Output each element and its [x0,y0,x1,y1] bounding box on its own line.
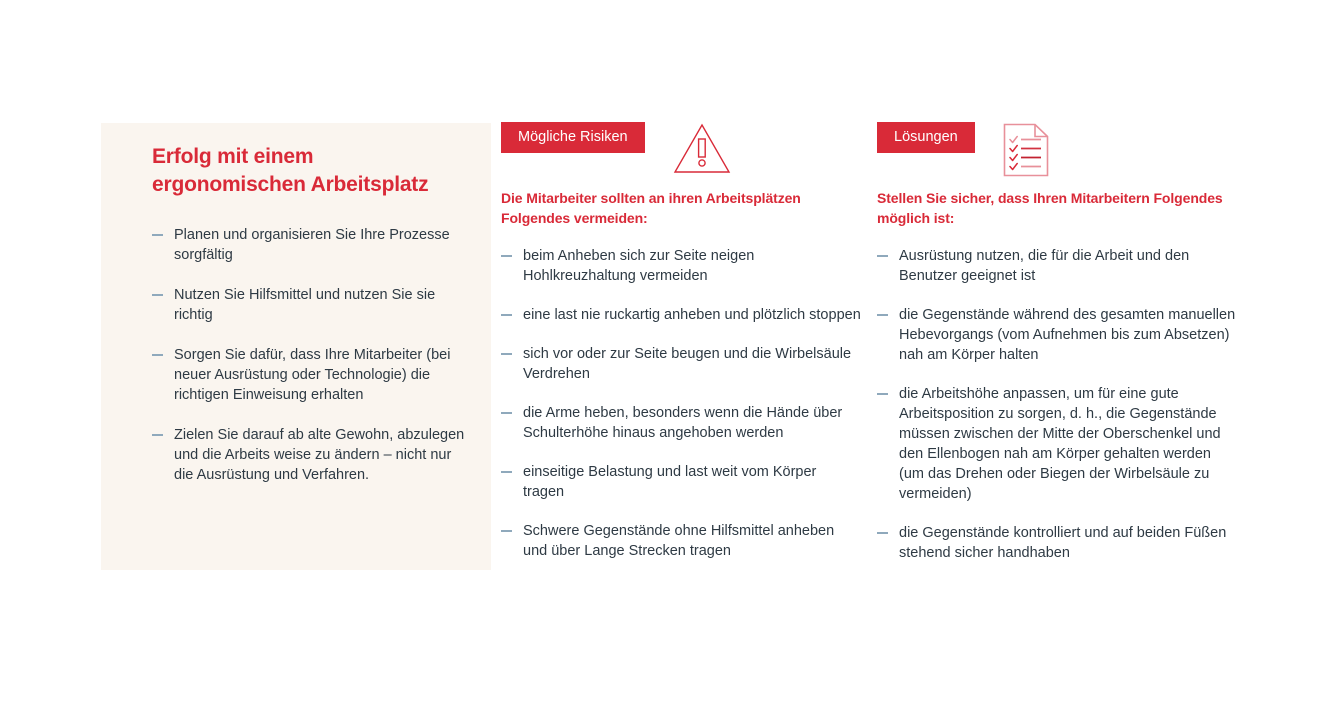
dash-bullet-icon [501,412,512,414]
dash-bullet-icon [152,234,163,236]
dash-bullet-icon [877,393,888,395]
dash-bullet-icon [501,471,512,473]
list-item: Ausrüstung nutzen, die für die Arbeit un… [877,246,1237,286]
solutions-badge: Lösungen [877,122,975,153]
list-item-text: die Gegenstände während des gesamten man… [899,307,1235,363]
solutions-column-header: Lösungen [877,122,1237,188]
dash-bullet-icon [152,434,163,436]
list-item: eine last nie ruckartig anheben und plöt… [501,305,861,325]
list-item-text: Zielen Sie darauf ab alte Gewohn, abzule… [174,427,464,483]
dash-bullet-icon [152,294,163,296]
list-item-text: Ausrüstung nutzen, die für die Arbeit un… [899,248,1189,284]
page-title: Erfolg mit einem ergonomischen Arbeitspl… [152,143,462,199]
list-item: einseitige Belastung und last weit vom K… [501,462,861,502]
list-item-text: Nutzen Sie Hilfsmittel und nutzen Sie si… [174,287,435,323]
dash-bullet-icon [877,532,888,534]
list-item-text: Sorgen Sie dafür, dass Ihre Mitarbeiter … [174,347,450,403]
list-item-text: Planen und organisieren Sie Ihre Prozess… [174,227,450,263]
list-item: die Arbeitshöhe anpassen, um für eine gu… [877,384,1237,504]
list-item-text: eine last nie ruckartig anheben und plöt… [523,307,861,323]
risks-heading: Die Mitarbeiter sollten an ihren Arbeits… [501,188,861,228]
success-tips-list: Planen und organisieren Sie Ihre Prozess… [152,225,469,485]
list-item: Nutzen Sie Hilfsmittel und nutzen Sie si… [152,285,469,325]
solutions-list: Ausrüstung nutzen, die für die Arbeit un… [877,246,1237,563]
dash-bullet-icon [877,314,888,316]
success-panel: Erfolg mit einem ergonomischen Arbeitspl… [101,123,491,570]
list-item: Schwere Gegenstände ohne Hilfsmittel anh… [501,521,861,561]
risks-column: Mögliche Risiken Die Mitarbeiter sollten… [501,122,861,561]
list-item: Sorgen Sie dafür, dass Ihre Mitarbeiter … [152,345,469,405]
dash-bullet-icon [877,255,888,257]
dash-bullet-icon [152,354,163,356]
risks-column-header: Mögliche Risiken [501,122,861,188]
list-item: die Gegenstände kontrolliert und auf bei… [877,523,1237,563]
risks-list: beim Anheben sich zur Seite neigen Hohlk… [501,246,861,561]
warning-triangle-icon [672,122,732,180]
dash-bullet-icon [501,353,512,355]
list-item-text: Schwere Gegenstände ohne Hilfsmittel anh… [523,523,834,559]
list-item: Planen und organisieren Sie Ihre Prozess… [152,225,469,265]
list-item: sich vor oder zur Seite beugen und die W… [501,344,861,384]
list-item-text: die Arme heben, besonders wenn die Hände… [523,405,842,441]
risks-badge: Mögliche Risiken [501,122,645,153]
list-item: beim Anheben sich zur Seite neigen Hohlk… [501,246,861,286]
success-panel-content: Erfolg mit einem ergonomischen Arbeitspl… [152,143,469,505]
dash-bullet-icon [501,530,512,532]
list-item-text: sich vor oder zur Seite beugen und die W… [523,346,851,382]
list-item-text: beim Anheben sich zur Seite neigen Hohlk… [523,248,754,284]
solutions-column: Lösungen Stellen Sie sicher, dass Ihren … [877,122,1237,563]
list-item-text: die Arbeitshöhe anpassen, um für eine gu… [899,386,1221,502]
list-item-text: einseitige Belastung und last weit vom K… [523,464,816,500]
dash-bullet-icon [501,255,512,257]
list-item: Zielen Sie darauf ab alte Gewohn, abzule… [152,425,469,485]
dash-bullet-icon [501,314,512,316]
checklist-document-icon [1002,122,1050,183]
list-item-text: die Gegenstände kontrolliert und auf bei… [899,525,1226,561]
list-item: die Gegenstände während des gesamten man… [877,305,1237,365]
solutions-heading: Stellen Sie sicher, dass Ihren Mitarbeit… [877,188,1237,228]
list-item: die Arme heben, besonders wenn die Hände… [501,403,861,443]
